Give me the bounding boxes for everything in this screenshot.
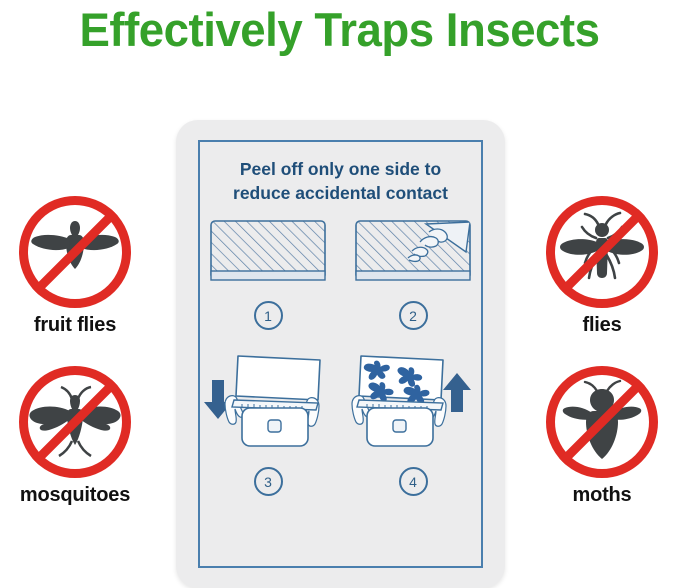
step-row-top: 1 bbox=[202, 218, 479, 330]
badge-label: mosquitoes bbox=[0, 484, 150, 507]
card-heading: Peel off only one side to reduce acciden… bbox=[176, 158, 505, 205]
badge-label: flies bbox=[527, 314, 677, 337]
step-number: 1 bbox=[254, 301, 283, 330]
step-number: 3 bbox=[254, 467, 283, 496]
hatched-card-icon bbox=[209, 218, 327, 294]
card-heading-line1: Peel off only one side to bbox=[176, 158, 505, 182]
trapped-insects-icon bbox=[347, 348, 479, 460]
instruction-card: Peel off only one side to reduce acciden… bbox=[176, 120, 505, 588]
no-moth-icon bbox=[546, 366, 658, 478]
card-heading-line2: reduce accidental contact bbox=[176, 182, 505, 206]
badge-label: moths bbox=[527, 484, 677, 507]
step-2: 2 bbox=[347, 218, 479, 330]
step-3: 3 bbox=[202, 348, 334, 496]
badge-label: fruit flies bbox=[0, 314, 150, 337]
badge-mosquitoes: mosquitoes bbox=[0, 366, 150, 507]
up-arrow-icon bbox=[443, 373, 471, 412]
step-1: 1 bbox=[202, 218, 334, 330]
step-4: 4 bbox=[347, 348, 479, 496]
no-mosquito-icon bbox=[19, 366, 131, 478]
no-fly-icon bbox=[546, 196, 658, 308]
badge-moths: moths bbox=[527, 366, 677, 507]
badge-fruit-flies: fruit flies bbox=[0, 196, 150, 337]
step-number: 2 bbox=[399, 301, 428, 330]
step-row-bottom: 3 bbox=[202, 348, 479, 496]
insert-card-icon bbox=[202, 348, 334, 460]
no-fruit-fly-icon bbox=[19, 196, 131, 308]
page-title: Effectively Traps Insects bbox=[10, 0, 669, 58]
peeling-hand-icon bbox=[354, 218, 472, 294]
steps-container: 1 bbox=[202, 218, 479, 496]
badge-flies: flies bbox=[527, 196, 677, 337]
step-number: 4 bbox=[399, 467, 428, 496]
